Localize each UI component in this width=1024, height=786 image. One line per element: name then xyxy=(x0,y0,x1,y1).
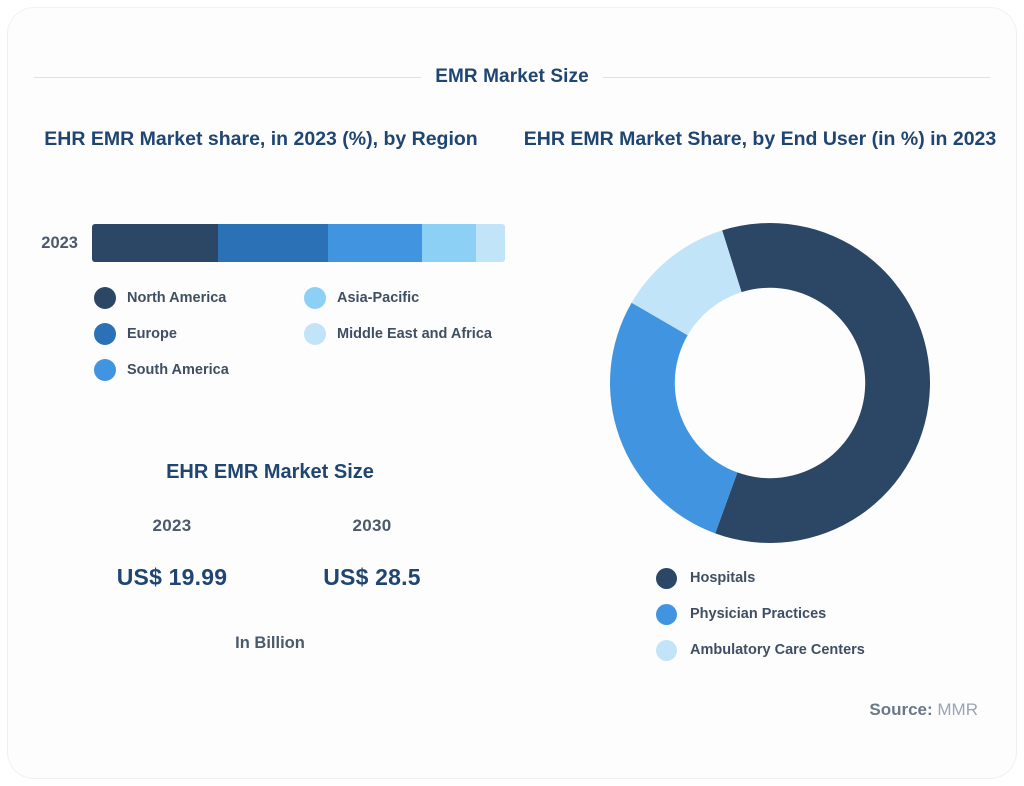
bar-chart-legend: North AmericaAsia-PacificEuropeMiddle Ea… xyxy=(94,280,514,388)
legend-dot-icon xyxy=(304,287,326,309)
bar-segment-1 xyxy=(218,224,328,262)
bar-legend-item: Middle East and Africa xyxy=(304,316,514,352)
donut-chart-title: EHR EMR Market Share, by End User (in %)… xyxy=(520,126,1000,154)
legend-dot-icon xyxy=(94,323,116,345)
legend-dot-icon xyxy=(656,604,677,625)
legend-dot-icon xyxy=(656,640,677,661)
market-size-title: EHR EMR Market Size xyxy=(26,461,514,484)
bar-axis-label: 2023 xyxy=(30,234,92,253)
market-size-value: US$ 28.5 xyxy=(272,564,472,591)
donut-legend-label: Ambulatory Care Centers xyxy=(690,642,865,658)
legend-dot-icon xyxy=(656,568,677,589)
market-size-year: 2030 xyxy=(272,516,472,536)
stacked-bar-track xyxy=(92,224,505,262)
legend-dot-icon xyxy=(304,323,326,345)
donut-legend-item: Ambulatory Care Centers xyxy=(656,632,976,668)
donut-slices xyxy=(610,223,930,543)
header-rule-right xyxy=(603,77,990,78)
market-size-column: 2023US$ 19.99 xyxy=(72,516,272,591)
header-rule-left xyxy=(34,77,421,78)
bar-legend-label: North America xyxy=(127,290,226,306)
bar-legend-label: Asia-Pacific xyxy=(337,290,419,306)
bar-legend-item: North America xyxy=(94,280,304,316)
bar-segment-3 xyxy=(422,224,476,262)
page-title: EMR Market Size xyxy=(435,66,589,88)
header: EMR Market Size xyxy=(8,66,1016,88)
legend-dot-icon xyxy=(94,359,116,381)
legend-dot-icon xyxy=(94,287,116,309)
donut-legend-item: Hospitals xyxy=(656,560,976,596)
source-note: Source: MMR xyxy=(869,700,978,720)
bar-segment-0 xyxy=(92,224,218,262)
donut-slice-0 xyxy=(715,223,930,543)
bar-legend-label: Middle East and Africa xyxy=(337,326,492,342)
donut-chart-svg xyxy=(602,215,938,551)
donut-legend-item: Physician Practices xyxy=(656,596,976,632)
market-size-column: 2030US$ 28.5 xyxy=(272,516,472,591)
bar-legend-item: Europe xyxy=(94,316,304,352)
donut-chart-legend: HospitalsPhysician PracticesAmbulatory C… xyxy=(656,560,976,668)
source-value: MMR xyxy=(937,700,978,719)
bar-segment-4 xyxy=(476,224,505,262)
stacked-bar-chart: 2023 xyxy=(30,222,505,264)
bar-legend-item: Asia-Pacific xyxy=(304,280,514,316)
bar-segment-2 xyxy=(328,224,422,262)
donut-legend-label: Hospitals xyxy=(690,570,755,586)
market-size-year: 2023 xyxy=(72,516,272,536)
bar-legend-item: South America xyxy=(94,352,304,388)
donut-slice-1 xyxy=(610,303,737,534)
source-label: Source: xyxy=(869,700,932,719)
market-size-value: US$ 19.99 xyxy=(72,564,272,591)
bar-legend-label: South America xyxy=(127,362,229,378)
market-size-unit: In Billion xyxy=(26,634,514,653)
donut-legend-label: Physician Practices xyxy=(690,606,826,622)
infographic-card: EMR Market Size EHR EMR Market share, in… xyxy=(8,8,1016,778)
market-size-values: 2023US$ 19.992030US$ 28.5 xyxy=(72,516,472,591)
donut-chart xyxy=(602,215,938,551)
bar-legend-label: Europe xyxy=(127,326,177,342)
bar-chart-title: EHR EMR Market share, in 2023 (%), by Re… xyxy=(26,126,496,154)
